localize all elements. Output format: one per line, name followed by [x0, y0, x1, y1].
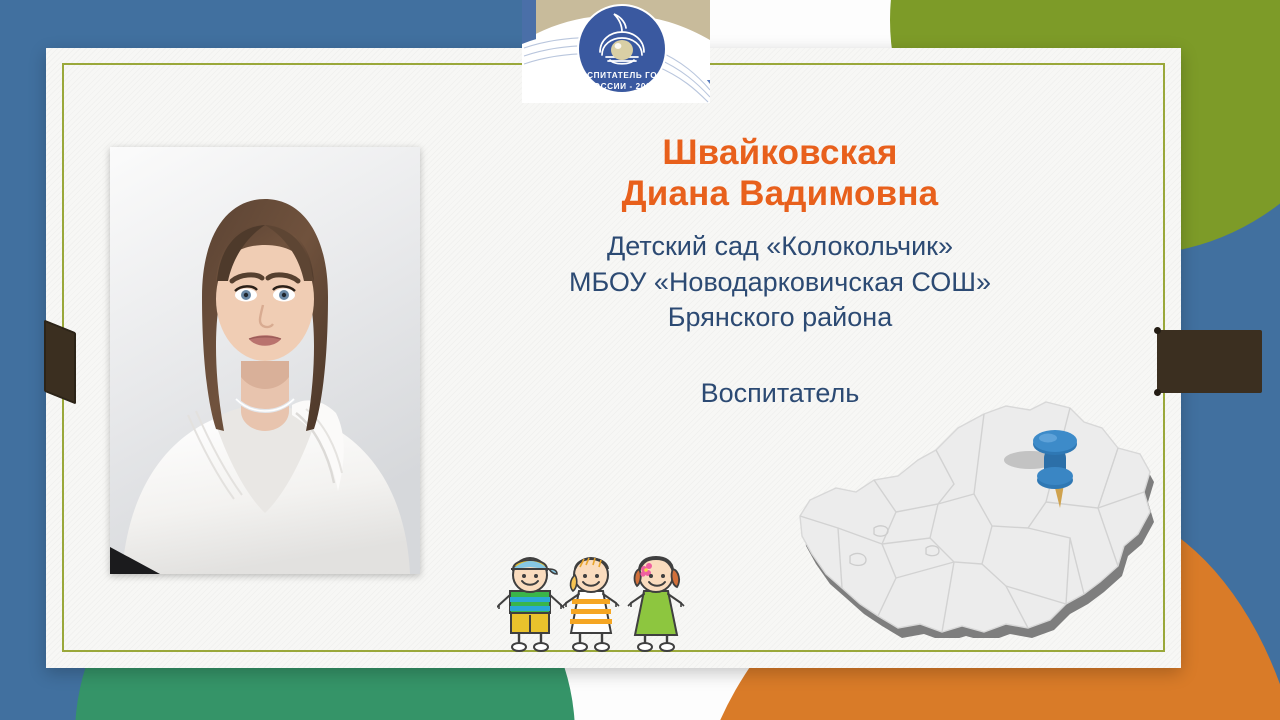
children-illustration [497, 553, 705, 656]
svg-text:РОССИИ - 2026: РОССИИ - 2026 [588, 82, 657, 91]
portrait-photo [110, 147, 420, 574]
title-line-1: Швайковская [450, 132, 1110, 173]
organization-line-2: МБОУ «Новодарковичская СОШ» [450, 265, 1110, 301]
organization-text: Детский сад «Колокольчик» МБОУ «Новодарк… [450, 229, 1110, 337]
organization-line-1: Детский сад «Колокольчик» [450, 229, 1110, 265]
title-line-2: Диана Вадимовна [450, 173, 1110, 214]
organization-line-3: Брянского района [450, 300, 1110, 336]
decorative-tab-left [44, 320, 76, 405]
region-map [778, 388, 1168, 638]
svg-text:ВОСПИТАТЕЛЬ ГОДА: ВОСПИТАТЕЛЬ ГОДА [574, 71, 670, 80]
info-text-block: Швайковская Диана Вадимовна Детский сад … [450, 132, 1110, 409]
page-title: Швайковская Диана Вадимовна [450, 132, 1110, 215]
competition-logo: ВОСПИТАТЕЛЬ ГОДА РОССИИ - 2026 [522, 0, 710, 103]
presentation-slide: ВОСПИТАТЕЛЬ ГОДА РОССИИ - 2026 [0, 0, 1280, 720]
decorative-tab-right [1157, 330, 1262, 393]
